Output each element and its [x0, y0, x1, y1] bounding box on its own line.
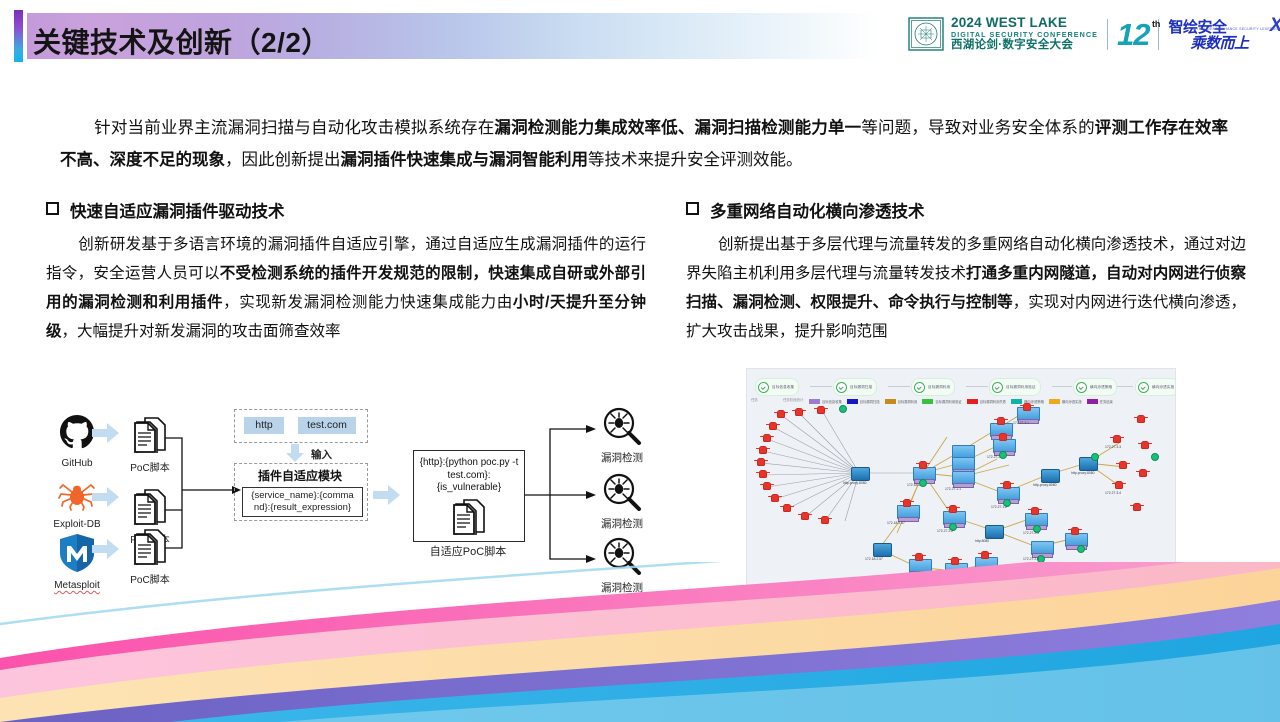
vuln-node[interactable] [763, 482, 771, 490]
right-section-heading: 多重网络自动化横向渗透技术 [686, 198, 1246, 222]
penetration-topology-screenshot: 目标信息收集 目标漏洞扫描 目标漏洞利用 目标漏洞利用验证 横向渗透策略 横向渗… [746, 368, 1176, 595]
step-0[interactable]: 目标信息收集 [755, 378, 799, 396]
axis-label-1: 任务阶段统计 [783, 397, 803, 402]
gateway-router[interactable] [851, 467, 870, 481]
check-icon [1138, 382, 1149, 393]
vuln-node[interactable] [1115, 481, 1123, 489]
legend-item-6: 横向渗透实施 [1049, 399, 1082, 404]
vuln-detect-label-1: 漏洞检测 [596, 450, 648, 465]
logo-divider-1 [1107, 19, 1108, 50]
check-icon [1076, 382, 1087, 393]
vuln-node[interactable] [981, 551, 989, 559]
intro-emph-3: 漏洞插件快速集成与漏洞智能利用 [341, 151, 589, 169]
document-icon [133, 529, 167, 565]
vulnerability-scan-icon [602, 537, 642, 575]
node-label: 172.27.2.2 [937, 529, 953, 533]
right-column: 多重网络自动化横向渗透技术 创新提出基于多层代理与流量转发的多重网络自动化横向渗… [686, 198, 1246, 346]
vuln-node[interactable] [821, 516, 829, 524]
task-stage-stepper: 目标信息收集 目标漏洞扫描 目标漏洞利用 目标漏洞利用验证 横向渗透策略 横向渗… [747, 374, 1175, 396]
vuln-node[interactable] [783, 504, 791, 512]
host-node[interactable] [975, 557, 998, 571]
legend-item-7: 任务结束 [1087, 399, 1113, 404]
vuln-node[interactable] [1031, 507, 1039, 515]
ok-node[interactable] [919, 479, 927, 487]
metasploit-shield-icon [58, 533, 96, 573]
vuln-node[interactable] [763, 434, 771, 442]
node-label: 172.18.2.57 [865, 557, 883, 561]
legend-label-1: 目标漏洞扫描 [860, 399, 880, 404]
vuln-node[interactable] [1113, 435, 1121, 443]
vuln-node[interactable] [777, 410, 785, 418]
poc-label-3: PoC脚本 [124, 571, 176, 586]
poc-script-3: PoC脚本 [124, 529, 176, 586]
legend-item-3: 目标漏洞利用验证 [922, 399, 961, 404]
node-label: http-proxy:8080 [843, 481, 867, 485]
host-node[interactable] [897, 505, 920, 519]
spider-icon [58, 478, 96, 512]
vuln-node[interactable] [1071, 527, 1079, 535]
legend-label-2: 目标漏洞利用 [898, 399, 918, 404]
module-title: 插件自适应模块 [235, 467, 365, 484]
document-icon [133, 489, 167, 525]
vuln-node[interactable] [795, 408, 803, 416]
github-icon [58, 413, 96, 451]
intro-paragraph: 针对当前业界主流漏洞扫描与自动化攻击模拟系统存在漏洞检测能力集成效率低、漏洞扫描… [60, 112, 1228, 176]
step-label-2: 目标漏洞利用 [928, 385, 950, 390]
host-node[interactable] [1031, 541, 1054, 555]
plugin-adaptation-diagram: GitHub Exploit-DB Metasploit [30, 405, 680, 595]
seal-icon [908, 17, 944, 51]
router-node[interactable] [873, 543, 892, 557]
arrow-right-icon [92, 423, 120, 443]
step-label-5: 横向渗透实施 [1152, 385, 1174, 390]
ok-node[interactable] [999, 451, 1007, 459]
host-node[interactable] [945, 563, 968, 577]
edition-number: 12 [1117, 17, 1149, 52]
intro-text-e: ，因此创新提出 [225, 151, 341, 169]
ok-node[interactable] [839, 405, 847, 413]
vuln-node[interactable] [903, 499, 911, 507]
legend-item-0: 目标信息收集 [809, 399, 842, 404]
vuln-node[interactable] [1141, 441, 1149, 449]
logo-edition: 12 th [1117, 19, 1149, 50]
vuln-node[interactable] [915, 553, 923, 561]
legend-label-7: 任务结束 [1100, 399, 1113, 404]
adaptive-poc-caption: 自适应PoC脚本 [398, 543, 538, 559]
legend-label-4: 目标漏洞利用失败 [980, 399, 1006, 404]
document-icon [133, 417, 167, 453]
document-icon [452, 499, 486, 535]
arrow-down-icon [285, 444, 305, 462]
network-topology-graph[interactable]: http-proxy:8080 172.18.2.9 172.27.1.1 17… [747, 407, 1175, 587]
graph-edges [747, 407, 1175, 587]
vuln-node[interactable] [1137, 415, 1145, 423]
right-heading-text: 多重网络自动化横向渗透技术 [710, 203, 925, 221]
module-template-line1: {service_name}:{comma [251, 490, 353, 501]
step-label-4: 横向渗透策略 [1090, 385, 1112, 390]
slogan-x-mark: X [1270, 15, 1280, 37]
host-node[interactable] [952, 457, 975, 471]
host-node[interactable] [952, 471, 975, 485]
vuln-node[interactable] [919, 461, 927, 469]
node-label: 172.27.2.1 [901, 577, 917, 581]
router-node[interactable] [1041, 469, 1060, 483]
source-label-metasploit: Metasploit [44, 580, 110, 591]
node-label: 172.27.3.4 [937, 579, 953, 583]
left-column: 快速自适应漏洞插件驱动技术 创新研发基于多语言环境的漏洞插件自适应引擎，通过自适… [46, 198, 646, 346]
module-template: {service_name}:{comma nd}:{result_expres… [242, 487, 363, 517]
check-icon [758, 382, 769, 393]
page-title: 关键技术及创新（2/2） [33, 21, 330, 61]
left-body-c: ，实现新发漏洞检测能力快速集成能力由 [223, 294, 513, 311]
check-icon [836, 382, 847, 393]
node-label: 172.27.2.3 [1023, 531, 1039, 535]
vuln-detect-2: 漏洞检测 [596, 473, 648, 531]
intro-text-g: 等技术来提升安全评测效能。 [588, 151, 803, 169]
node-label: 172.18.2.57 [887, 521, 905, 525]
vuln-node[interactable] [1023, 403, 1031, 411]
vuln-node[interactable] [759, 446, 767, 454]
left-heading-text: 快速自适应漏洞插件驱动技术 [70, 203, 285, 221]
edition-suffix: th [1152, 19, 1161, 29]
node-label: 172.27.1.2 [991, 505, 1007, 509]
step-4[interactable]: 横向渗透策略 [1073, 378, 1117, 396]
node-label: 172.27.3.4 [1105, 491, 1121, 495]
vuln-node[interactable] [949, 505, 957, 513]
ok-node[interactable] [1151, 453, 1159, 461]
module-template-line2: nd}:{result_expression} [254, 502, 351, 513]
vuln-node[interactable] [769, 422, 777, 430]
vuln-node[interactable] [1003, 481, 1011, 489]
logo-text-block: 2024 WEST LAKE DIGITAL SECURITY CONFEREN… [951, 16, 1098, 52]
logo-cn-name: 西湖论剑·数字安全大会 [951, 40, 1098, 52]
check-icon [914, 382, 925, 393]
legend-item-4: 目标漏洞利用失败 [967, 399, 1006, 404]
vuln-node[interactable] [1119, 461, 1127, 469]
step-5[interactable]: 横向渗透实施 [1135, 378, 1176, 396]
poc-script-1: PoC脚本 [124, 417, 176, 474]
vuln-detect-label-3: 漏洞检测 [596, 580, 648, 595]
vuln-node[interactable] [817, 406, 825, 414]
output-code-line1: {http}:{python poc.py -t [420, 457, 519, 468]
step-2[interactable]: 目标漏洞利用 [911, 378, 955, 396]
source-label-github: GitHub [44, 458, 110, 469]
source-label-exploitdb: Exploit-DB [44, 519, 110, 530]
intro-text-a: 针对当前业界主流漏洞扫描与自动化攻击模拟系统存在 [94, 119, 494, 137]
logo-subtitle: DIGITAL SECURITY CONFERENCE [951, 31, 1098, 38]
vuln-node[interactable] [771, 494, 779, 502]
header-accent-bar [14, 10, 23, 62]
legend-label-3: 目标漏洞利用验证 [935, 399, 961, 404]
legend-label-6: 横向渗透实施 [1062, 399, 1082, 404]
intro-emph-1: 漏洞检测能力集成效率低、漏洞扫描检测能力单一 [494, 119, 861, 137]
bullet-square-icon [686, 202, 699, 215]
chip-testcom: test.com [298, 417, 356, 434]
step-1[interactable]: 目标漏洞扫描 [833, 378, 877, 396]
node-label: http-proxy:8080 [1071, 471, 1095, 475]
right-section-body: 创新提出基于多层代理与流量转发的多重网络自动化横向渗透技术，通过对边界失陷主机利… [686, 230, 1246, 346]
chip-http: http [244, 417, 284, 434]
slogan-line-2: 乘数而上 [1190, 32, 1248, 53]
vuln-node[interactable] [1133, 503, 1141, 511]
logo-year-title: 2024 WEST LAKE [951, 16, 1098, 30]
vuln-detect-1: 漏洞检测 [596, 407, 648, 465]
poc-label-1: PoC脚本 [124, 459, 176, 474]
vuln-node[interactable] [997, 417, 1005, 425]
output-code-line2: test.com}:{is_vulnerable} [437, 470, 501, 494]
logo-slogan: 智绘安全 乘数而上 X INTELLIGENT ENHANCE SECURITY… [1168, 17, 1280, 51]
vuln-detect-label-2: 漏洞检测 [596, 516, 648, 531]
node-label: http-proxy:8080 [1033, 483, 1057, 487]
conference-logo: 2024 WEST LAKE DIGITAL SECURITY CONFEREN… [908, 16, 1280, 52]
step-3[interactable]: 目标漏洞利用验证 [989, 378, 1041, 396]
vuln-node[interactable] [757, 458, 765, 466]
vuln-node[interactable] [801, 512, 809, 520]
vuln-node[interactable] [759, 470, 767, 478]
node-label: 172.27.1.1 [945, 487, 961, 491]
legend-item-1: 目标漏洞扫描 [847, 399, 880, 404]
intro-text-c: 等问题，导致对业务安全体系的 [861, 119, 1094, 137]
arrow-right-icon [92, 539, 120, 559]
vulnerability-scan-icon [602, 407, 642, 445]
router-node[interactable] [985, 525, 1004, 539]
node-label: 172.27.3.3 [1105, 445, 1121, 449]
left-section-heading: 快速自适应漏洞插件驱动技术 [46, 198, 646, 222]
legend-label-0: 目标信息收集 [822, 399, 842, 404]
vuln-detect-3: 漏洞检测 [596, 537, 648, 595]
ok-node[interactable] [1091, 453, 1099, 461]
bullet-square-icon [46, 202, 59, 215]
vuln-node[interactable] [999, 433, 1007, 441]
vuln-node[interactable] [951, 557, 959, 565]
check-icon [992, 382, 1003, 393]
node-label: 172.27.2.5 [1023, 557, 1039, 561]
legend-item-2: 目标漏洞利用 [885, 399, 918, 404]
arrow-right-icon [373, 485, 401, 505]
left-section-body: 创新研发基于多语言环境的漏洞插件自适应引擎，通过自适应生成漏洞插件的运行指令，安… [46, 230, 646, 346]
topology-legend: 目标信息收集 目标漏洞扫描 目标漏洞利用 目标漏洞利用验证 目标漏洞利用失败 横… [809, 398, 1113, 405]
vuln-node[interactable] [1139, 469, 1147, 477]
axis-label-0: 任务 [751, 397, 758, 402]
step-label-1: 目标漏洞扫描 [850, 385, 872, 390]
node-label: http:8080 [975, 539, 989, 543]
ok-node[interactable] [1077, 545, 1085, 553]
adaptive-poc-box: {http}:{python poc.py -t test.com}:{is_v… [413, 450, 525, 542]
left-body-e: ，大幅提升对新发漏洞的攻击面筛查效率 [62, 323, 341, 340]
vulnerability-scan-icon [602, 473, 642, 511]
arrow-right-icon [92, 487, 120, 507]
output-code: {http}:{python poc.py -t test.com}:{is_v… [414, 451, 524, 495]
step-label-0: 目标信息收集 [772, 385, 794, 390]
step-label-3: 目标漏洞利用验证 [1006, 385, 1036, 390]
node-label: 172.27.3.1 [1013, 421, 1029, 425]
slogan-micro-text: INTELLIGENT ENHANCE SECURITY LEVERAGE AC… [1192, 27, 1280, 31]
input-label: 输入 [311, 447, 332, 462]
